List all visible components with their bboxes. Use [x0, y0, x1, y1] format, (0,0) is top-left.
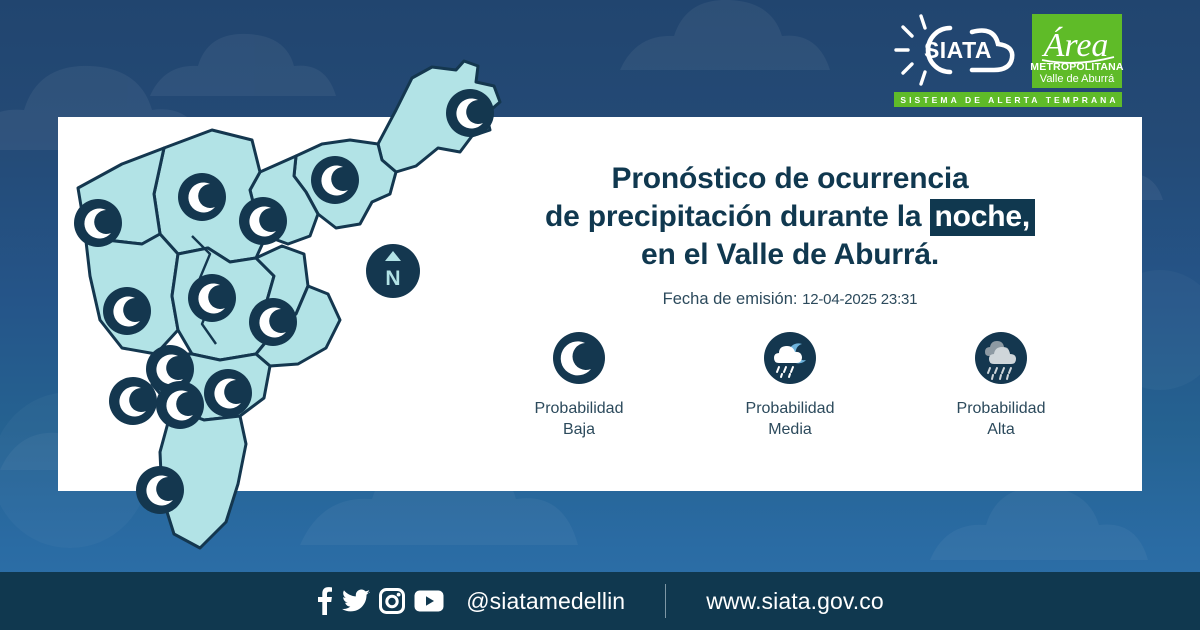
- social-handle[interactable]: @siatamedellin: [466, 588, 625, 615]
- marker-11[interactable]: [156, 381, 204, 429]
- legend-label-alta-line1: Probabilidad: [934, 398, 1069, 419]
- area-script-icon: Área: [1032, 18, 1122, 66]
- title-block: Pronóstico de ocurrencia de precipitació…: [470, 160, 1110, 310]
- marker-7[interactable]: [188, 274, 236, 322]
- marker-5[interactable]: [74, 199, 122, 247]
- poster-root: SIATA Área METROPOLITANA Valle de Aburrá…: [0, 0, 1200, 630]
- sun-cloud-icon: SIATA: [894, 14, 1022, 86]
- legend-label-baja: Probabilidad Baja: [512, 398, 647, 440]
- legend-label-alta: Probabilidad Alta: [934, 398, 1069, 440]
- legend-label-media-line2: Media: [723, 419, 858, 440]
- emission-date-value: 12-04-2025 23:31: [802, 291, 917, 308]
- marker-6[interactable]: [103, 287, 151, 335]
- svg-text:N: N: [385, 267, 400, 290]
- emission-date-label: Fecha de emisión:: [663, 290, 798, 308]
- svg-text:SIATA: SIATA: [924, 37, 992, 63]
- legend-item-media: Probabilidad Media: [723, 330, 858, 440]
- legend-label-alta-line2: Alta: [934, 419, 1069, 440]
- title-line-2: de precipitación durante la noche,: [470, 198, 1110, 236]
- marker-12[interactable]: [204, 369, 252, 417]
- cloud-heavy-rain-icon: [973, 330, 1029, 386]
- north-arrow-icon: N: [366, 244, 420, 298]
- marker-10[interactable]: [109, 377, 157, 425]
- siata-logo: SIATA: [894, 14, 1022, 86]
- twitter-icon[interactable]: [342, 589, 370, 613]
- probability-legend: Probabilidad Baja Probabilidad Media: [470, 330, 1110, 440]
- legend-label-baja-line2: Baja: [512, 419, 647, 440]
- legend-item-baja: Probabilidad Baja: [512, 330, 647, 440]
- marker-1[interactable]: [446, 89, 494, 137]
- legend-item-alta: Probabilidad Alta: [934, 330, 1069, 440]
- emission-date: Fecha de emisión: 12-04-2025 23:31: [470, 289, 1110, 310]
- title-line-3: en el Valle de Aburrá.: [470, 236, 1110, 274]
- page-title: Pronóstico de ocurrencia de precipitació…: [470, 160, 1110, 274]
- marker-3[interactable]: [239, 197, 287, 245]
- alerta-temprana-band: SISTEMA DE ALERTA TEMPRANA: [894, 92, 1122, 107]
- marker-8[interactable]: [249, 298, 297, 346]
- aburra-valley-map: N: [60, 48, 560, 573]
- title-highlight-noche: noche,: [930, 199, 1035, 236]
- cloud-rain-moon-icon: [762, 330, 818, 386]
- footer-bar: @siatamedellin www.siata.gov.co: [0, 572, 1200, 630]
- area-script-text: Área: [1042, 27, 1109, 64]
- instagram-icon[interactable]: [379, 588, 405, 614]
- header-logos: SIATA Área METROPOLITANA Valle de Aburrá: [894, 14, 1122, 88]
- youtube-icon[interactable]: [414, 590, 444, 612]
- title-line-2-text: de precipitación durante la: [545, 200, 930, 233]
- area-logo-line2: Valle de Aburrá: [1040, 73, 1114, 85]
- moon-icon: [551, 330, 607, 386]
- title-line-1: Pronóstico de ocurrencia: [470, 160, 1110, 198]
- legend-label-media-line1: Probabilidad: [723, 398, 858, 419]
- marker-13[interactable]: [136, 466, 184, 514]
- website-url[interactable]: www.siata.gov.co: [706, 588, 884, 615]
- legend-label-baja-line1: Probabilidad: [512, 398, 647, 419]
- marker-4[interactable]: [178, 173, 226, 221]
- footer-divider: [665, 584, 666, 618]
- legend-label-media: Probabilidad Media: [723, 398, 858, 440]
- marker-2[interactable]: [311, 156, 359, 204]
- social-icons: [316, 587, 444, 615]
- area-metropolitana-logo: Área METROPOLITANA Valle de Aburrá: [1032, 14, 1122, 88]
- facebook-icon[interactable]: [316, 587, 333, 615]
